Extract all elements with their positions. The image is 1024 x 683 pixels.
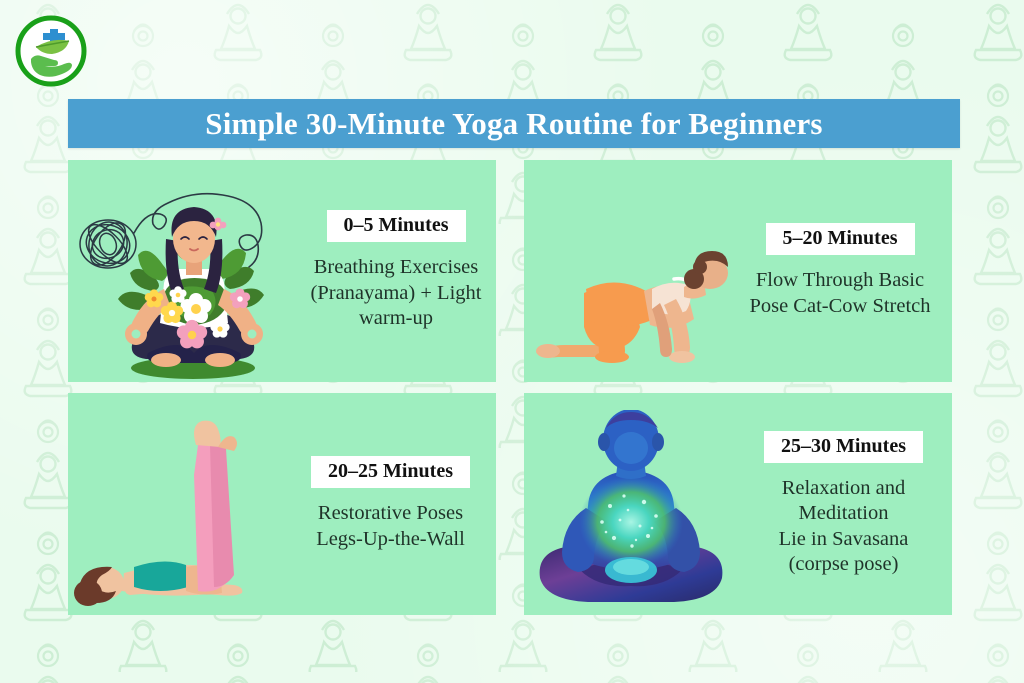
card-description: Breathing Exercises (Pranayama) + Light …	[311, 255, 482, 331]
health-leaf-hand-logo[interactable]	[14, 14, 88, 88]
routine-card-breathing[interactable]: 0–5 Minutes Breathing Exercises (Pranaya…	[68, 160, 496, 382]
card-text-block: 0–5 Minutes Breathing Exercises (Pranaya…	[300, 210, 496, 331]
card-text-block: 5–20 Minutes Flow Through Basic Pose Cat…	[730, 223, 952, 319]
routine-card-restorative[interactable]: 20–25 Minutes Restorative Poses Legs-Up-…	[68, 393, 496, 615]
card-text-block: 25–30 Minutes Relaxation and Meditation …	[739, 431, 952, 578]
woman-legs-up-the-wall-illustration	[68, 393, 293, 615]
cosmic-figure-lotus-meditation-illustration	[524, 393, 739, 615]
time-badge: 0–5 Minutes	[327, 210, 466, 242]
page-title: Simple 30-Minute Yoga Routine for Beginn…	[205, 108, 822, 139]
routine-cards-grid: 0–5 Minutes Breathing Exercises (Pranaya…	[68, 160, 952, 615]
card-description: Restorative Poses Legs-Up-the-Wall	[316, 501, 465, 552]
card-description: Relaxation and Meditation Lie in Savasan…	[779, 476, 909, 578]
time-badge: 20–25 Minutes	[311, 456, 470, 488]
routine-card-relaxation[interactable]: 25–30 Minutes Relaxation and Meditation …	[524, 393, 952, 615]
woman-cat-cow-pose-illustration	[524, 160, 730, 382]
page-title-banner: Simple 30-Minute Yoga Routine for Beginn…	[68, 99, 960, 148]
time-badge: 5–20 Minutes	[766, 223, 915, 255]
card-description: Flow Through Basic Pose Cat-Cow Stretch	[749, 268, 930, 319]
infographic-canvas: Simple 30-Minute Yoga Routine for Beginn…	[0, 0, 1024, 683]
routine-card-flow[interactable]: 5–20 Minutes Flow Through Basic Pose Cat…	[524, 160, 952, 382]
time-badge: 25–30 Minutes	[764, 431, 923, 463]
card-text-block: 20–25 Minutes Restorative Poses Legs-Up-…	[293, 456, 496, 552]
woman-lotus-pose-with-flowers-illustration	[68, 160, 300, 382]
